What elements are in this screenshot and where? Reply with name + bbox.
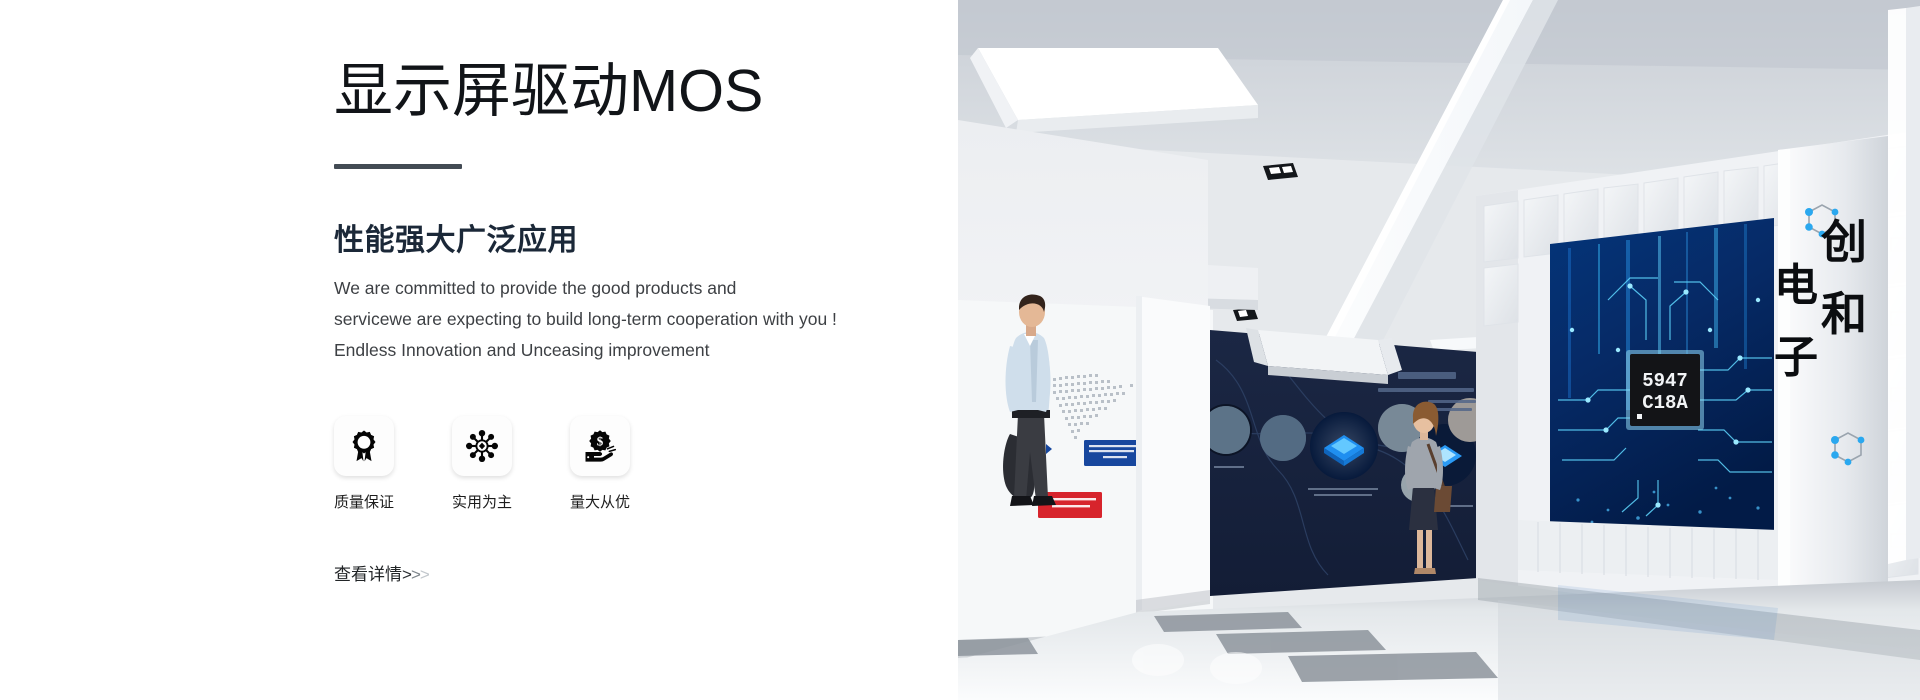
showroom-photo: 5947 C18A — [958, 0, 1920, 700]
hand-money-icon: $ — [570, 416, 630, 476]
description-line-3: Endless Innovation and Unceasing improve… — [334, 335, 914, 366]
wall-sign-char-he: 和 — [1821, 287, 1867, 341]
banner-description: We are committed to provide the good pro… — [334, 273, 914, 366]
wall-sign-char-chuang: 创 — [1821, 215, 1867, 269]
chip-display-screen: 5947 C18A — [1550, 218, 1774, 540]
chevron-3-icon: > — [420, 565, 429, 585]
wall-sign-char-dian: 电 — [1774, 260, 1818, 311]
chip-label-line2: C18A — [1642, 392, 1688, 414]
svg-text:$: $ — [597, 434, 604, 449]
blue-wall-sign — [1084, 440, 1142, 466]
chevron-2-icon: > — [411, 565, 420, 585]
view-details-label: 查看详情 — [334, 560, 402, 585]
banner-text-panel: 显示屏驱动MOS 性能强大广泛应用 We are committed to pr… — [0, 0, 958, 700]
view-details-link[interactable]: 查看详情>>> — [334, 560, 429, 585]
feature-label: 量大从优 — [570, 491, 630, 512]
banner-content: 显示屏驱动MOS 性能强大广泛应用 We are committed to pr… — [334, 58, 914, 585]
feature-item-bulk-discount[interactable]: $ 量大从优 — [570, 416, 688, 512]
chip-label-line1: 5947 — [1642, 370, 1688, 392]
feature-label: 质量保证 — [334, 491, 394, 512]
description-line-1: We are committed to provide the good pro… — [334, 273, 914, 304]
banner-subtitle: 性能强大广泛应用 — [334, 215, 914, 259]
description-line-2: servicewe are expecting to build long-te… — [334, 304, 914, 335]
chevron-1-icon: > — [402, 565, 411, 585]
feature-item-practical[interactable]: 实用为主 — [452, 416, 570, 512]
chip-package: 5947 C18A — [1626, 350, 1704, 430]
wall-sign-char-zi: 子 — [1774, 332, 1818, 383]
award-ribbon-icon — [334, 416, 394, 476]
feature-label: 实用为主 — [452, 491, 512, 512]
network-hub-icon — [452, 416, 512, 476]
hero-banner: 显示屏驱动MOS 性能强大广泛应用 We are committed to pr… — [0, 0, 1920, 700]
title-divider — [334, 164, 462, 169]
feature-list: 质量保证 — [334, 416, 914, 512]
feature-item-quality[interactable]: 质量保证 — [334, 416, 452, 512]
page-title: 显示屏驱动MOS — [334, 58, 914, 124]
showroom-illustration: 5947 C18A — [958, 0, 1920, 700]
